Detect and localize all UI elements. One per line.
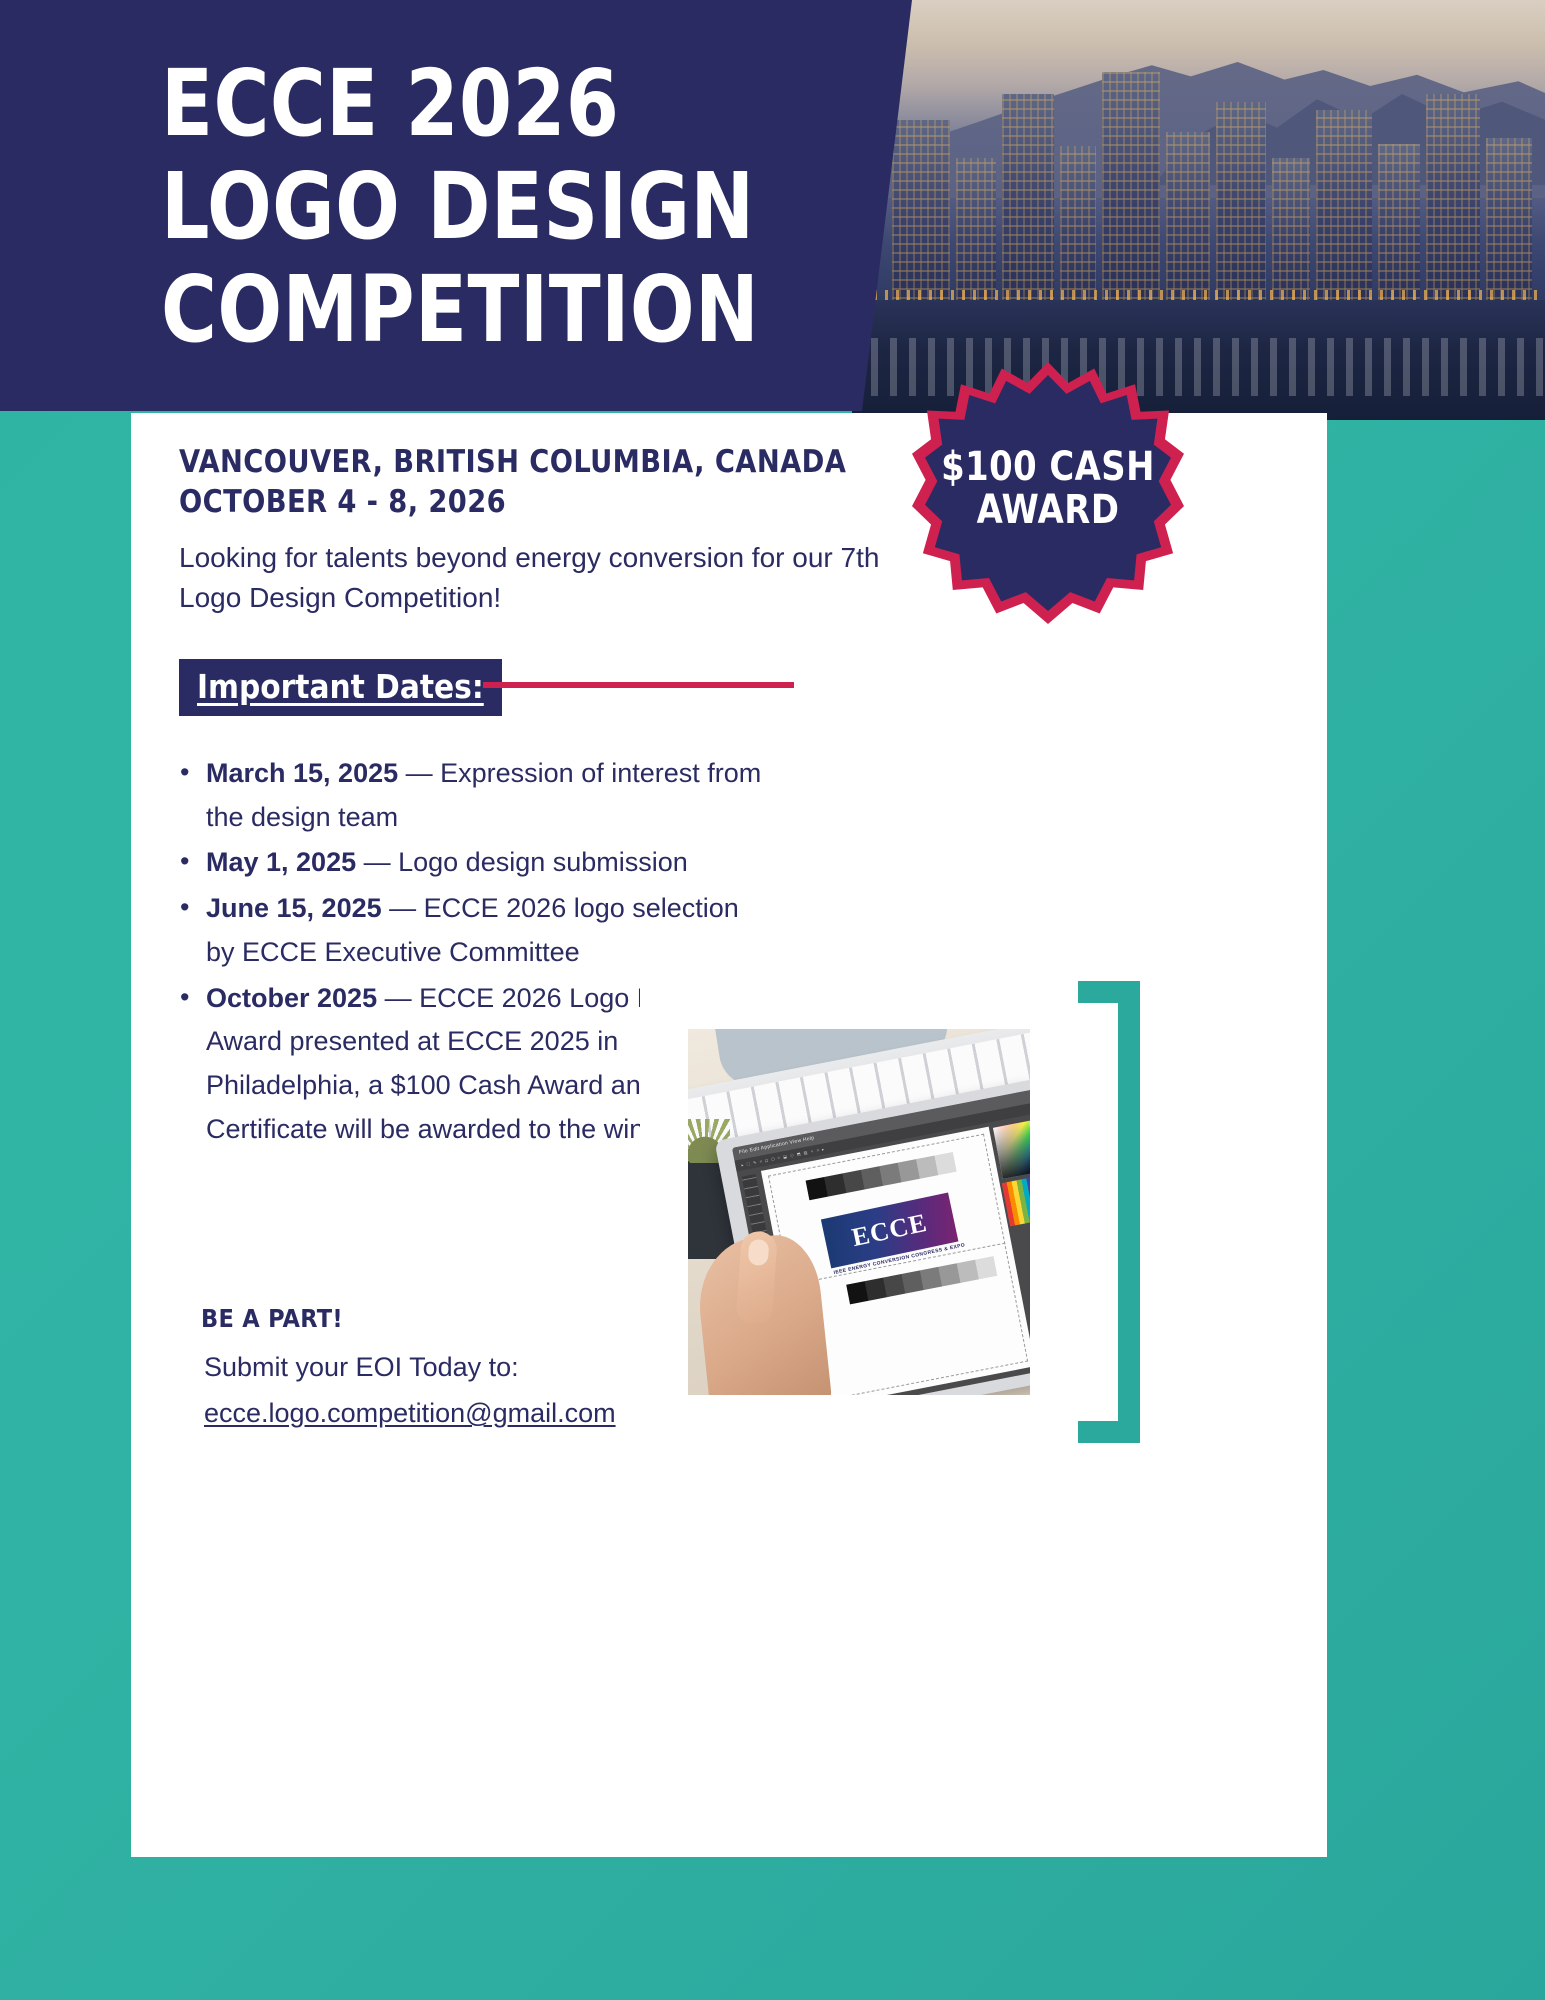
building: [892, 120, 950, 308]
list-item-date: May 1, 2025: [206, 847, 356, 877]
color-picker-panel: [993, 1119, 1030, 1178]
important-dates-heading: Important Dates:: [179, 659, 502, 716]
vancouver-skyline-photo: [852, 0, 1545, 420]
list-item-text: — Logo design submission: [356, 847, 688, 877]
decorative-dot: [1100, 822, 1119, 841]
decorative-dot: [1060, 864, 1079, 883]
dot-grid-decoration: [1020, 612, 1262, 952]
list-item: May 1, 2025 — Logo design submission: [170, 841, 770, 885]
cash-award-badge: $100 CASH AWARD: [912, 362, 1184, 624]
list-item-date: June 15, 2025: [206, 893, 382, 923]
decorative-dot: [1060, 738, 1079, 757]
decorative-dot: [1180, 864, 1199, 883]
cta-heading: BE A PART!: [201, 1304, 343, 1333]
decorative-dot: [1100, 780, 1119, 799]
decorative-dot: [1140, 654, 1159, 673]
building: [1102, 72, 1160, 308]
page-title: ECCE 2026 LOGO DESIGN COMPETITION: [161, 52, 860, 361]
intro-paragraph: Looking for talents beyond energy conver…: [179, 538, 899, 618]
cta-subtext: Submit your EOI Today to:: [204, 1352, 519, 1383]
tablet-photo: File Edit Application View Help ▸ ⬚ ✎ ⌗ …: [688, 1029, 1030, 1395]
decorative-dot: [1020, 780, 1039, 799]
decorative-dot: [1100, 654, 1119, 673]
decorative-dot: [1060, 780, 1079, 799]
decorative-dot: [1020, 654, 1039, 673]
decorative-dot: [1180, 780, 1199, 799]
building: [1216, 102, 1266, 308]
heading-accent-rule: [483, 682, 794, 688]
decorative-dot: [1100, 864, 1119, 883]
decorative-dot: [1220, 738, 1239, 757]
building: [1166, 132, 1210, 308]
poster-root: ECCE 2026 LOGO DESIGN COMPETITION VANCOU…: [0, 0, 1545, 2000]
decorative-dot: [1220, 906, 1239, 925]
decorative-dot: [1020, 738, 1039, 757]
decorative-dot: [1180, 822, 1199, 841]
decorative-dot: [1180, 906, 1199, 925]
decorative-dot: [1060, 654, 1079, 673]
list-item: March 15, 2025 — Expression of interest …: [170, 752, 770, 839]
building: [1378, 144, 1420, 308]
venue-and-dates: VANCOUVER, BRITISH COLUMBIA, CANADA OCTO…: [179, 443, 885, 522]
tablet-photo-composition: File Edit Application View Help ▸ ⬚ ✎ ⌗ …: [640, 972, 1140, 1472]
list-item-date: October 2025: [206, 983, 377, 1013]
decorative-dot: [1220, 864, 1239, 883]
decorative-dot: [1020, 696, 1039, 715]
decorative-dot: [1060, 696, 1079, 715]
list-item: June 15, 2025 — ECCE 2026 logo selection…: [170, 887, 770, 974]
decorative-dot: [1060, 822, 1079, 841]
list-item-date: March 15, 2025: [206, 758, 398, 788]
cash-award-label: $100 CASH AWARD: [920, 446, 1176, 532]
thumb: [736, 1230, 778, 1324]
decorative-dot: [1100, 738, 1119, 757]
decorative-dot: [1140, 780, 1159, 799]
decorative-dot: [1220, 822, 1239, 841]
decorative-dot: [1220, 780, 1239, 799]
decorative-dot: [1180, 738, 1199, 757]
building: [1486, 138, 1532, 308]
decorative-dot: [1140, 822, 1159, 841]
building: [1426, 94, 1480, 308]
thumbnail: [748, 1239, 770, 1266]
decorative-dot: [1140, 738, 1159, 757]
contact-email-link[interactable]: ecce.logo.competition@gmail.com: [204, 1398, 616, 1429]
building: [1060, 146, 1096, 308]
decorative-dot: [1140, 906, 1159, 925]
building: [1002, 94, 1054, 308]
building: [1316, 110, 1372, 308]
decorative-dot: [1100, 696, 1119, 715]
decorative-dot: [1140, 696, 1159, 715]
building: [956, 158, 996, 308]
building: [1272, 158, 1310, 308]
decorative-dot: [1140, 864, 1159, 883]
